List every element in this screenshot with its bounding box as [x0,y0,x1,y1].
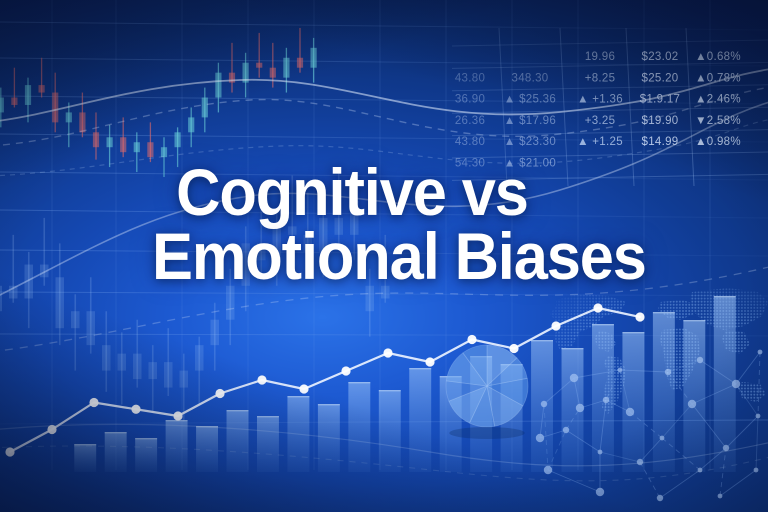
corner-shade-overlay [0,0,768,512]
banner-graphic: 19.96$23.02▲0.68%43.80348.30+8.25$25.20▲… [0,0,768,512]
